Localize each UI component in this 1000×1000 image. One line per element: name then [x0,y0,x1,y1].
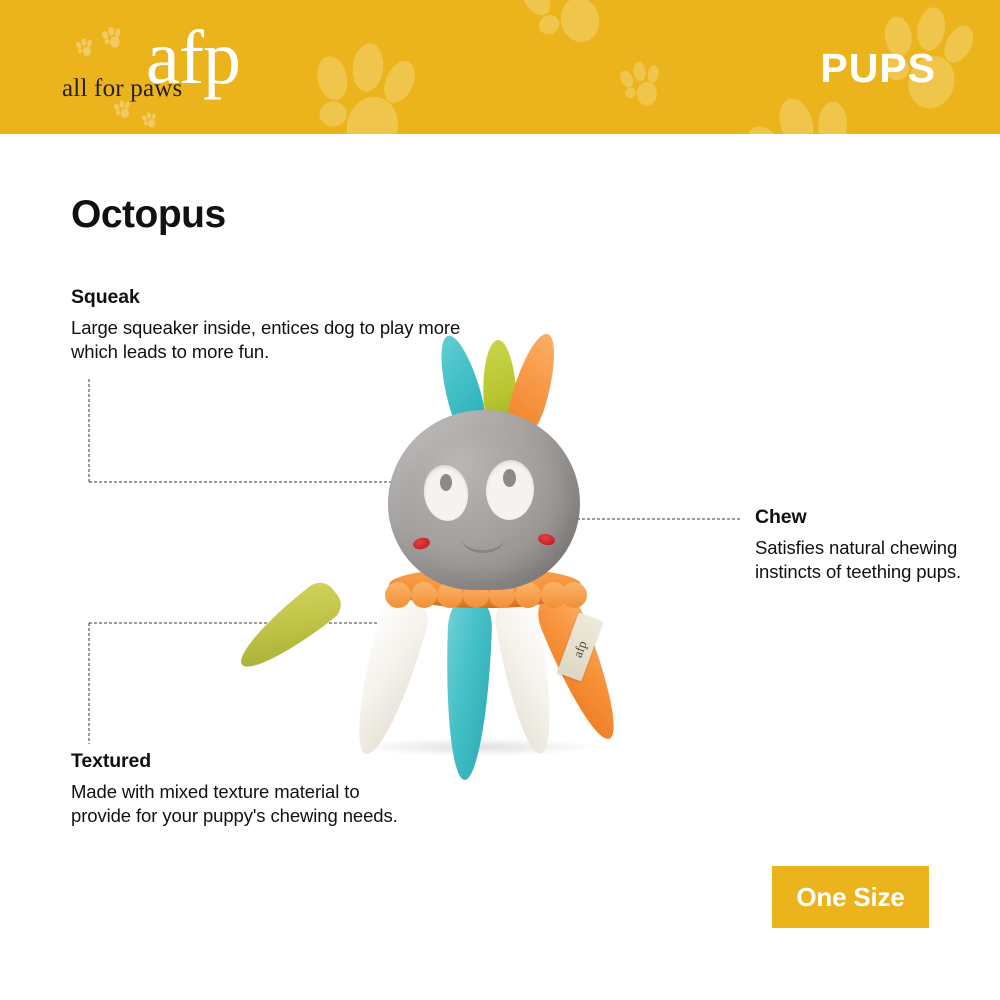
toy-head [388,410,580,590]
toy-mouth [462,526,504,553]
page-title: Octopus [71,193,226,237]
leader-line-textured-vertical [88,622,90,744]
toy-cheek-right [537,532,556,546]
toy-tentacle-olive [230,576,348,680]
size-badge: One Size [772,866,929,928]
collar-frill [561,582,587,608]
toy-eye-left [420,462,471,524]
toy-tentacle-white-left [343,589,434,760]
collar-frill [385,582,411,608]
toy-pupil-left [440,474,452,491]
brand-logo-tagline: all for paws [62,76,182,101]
feature-textured-heading: Textured [71,750,401,773]
brand-logo[interactable]: afp all for paws [58,18,298,122]
product-image-octopus-toy: afp [305,330,675,750]
feature-chew-heading: Chew [755,506,965,529]
feature-chew: Chew Satisfies natural chewing instincts… [755,506,965,584]
brand-header: afp all for paws PUPS [0,0,1000,134]
feature-textured: Textured Made with mixed texture materia… [71,750,401,828]
toy-cheek-left [412,536,431,551]
section-label-pups: PUPS [820,46,936,90]
product-infographic: afp all for paws PUPS Octopus Squeak Lar… [0,0,1000,1000]
leader-line-squeak-vertical [88,378,90,483]
feature-textured-body: Made with mixed texture material to prov… [71,780,401,828]
feature-chew-body: Satisfies natural chewing instincts of t… [755,536,965,584]
collar-frill [411,582,437,608]
feature-squeak-heading: Squeak [71,286,471,309]
toy-pupil-right [503,469,516,487]
toy-eye-right [484,458,536,521]
